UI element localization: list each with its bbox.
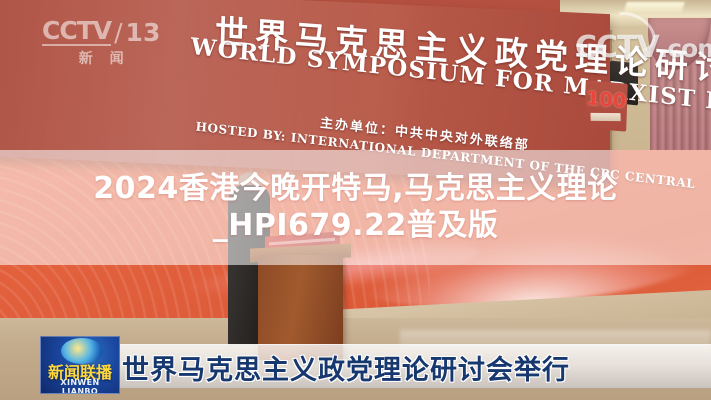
emblem-banner-shape — [590, 113, 620, 121]
cctv-channel-number: 13 — [126, 20, 161, 45]
emblem-number: 100 — [586, 89, 626, 111]
xinwen-lianbo-logo: 新闻联播 XINWEN LIANBO — [40, 336, 120, 394]
xinwen-lianbo-label-en: XINWEN LIANBO — [41, 378, 119, 394]
cctv13-logo-row: CCTV / 13 — [42, 18, 160, 46]
cctv13-channel-logo: CCTV / 13 新 闻 — [42, 18, 160, 66]
cctv-com-suffix: .com — [659, 34, 711, 63]
broadcast-screenshot: 世界马克思主义政党理论研讨会 WORLD SYMPOSIUM FOR MARXI… — [0, 0, 711, 400]
cpc-centenary-emblem: 100 — [584, 80, 628, 131]
cctv-channel-subtitle: 新 闻 — [42, 52, 160, 66]
news-headline: 世界马克思主义政党理论研讨会举行 — [122, 348, 570, 387]
cctv-com-brand: CCTV — [575, 30, 659, 65]
cctv-com-watermark: CCTV .com — [575, 30, 711, 65]
cctv-wordmark: CCTV — [42, 18, 111, 46]
cctv-slash-icon: / — [114, 20, 122, 45]
overlay-caption: 2024香港今晚开特马,马克思主义理论_HPI679.22普及版 — [0, 150, 711, 265]
